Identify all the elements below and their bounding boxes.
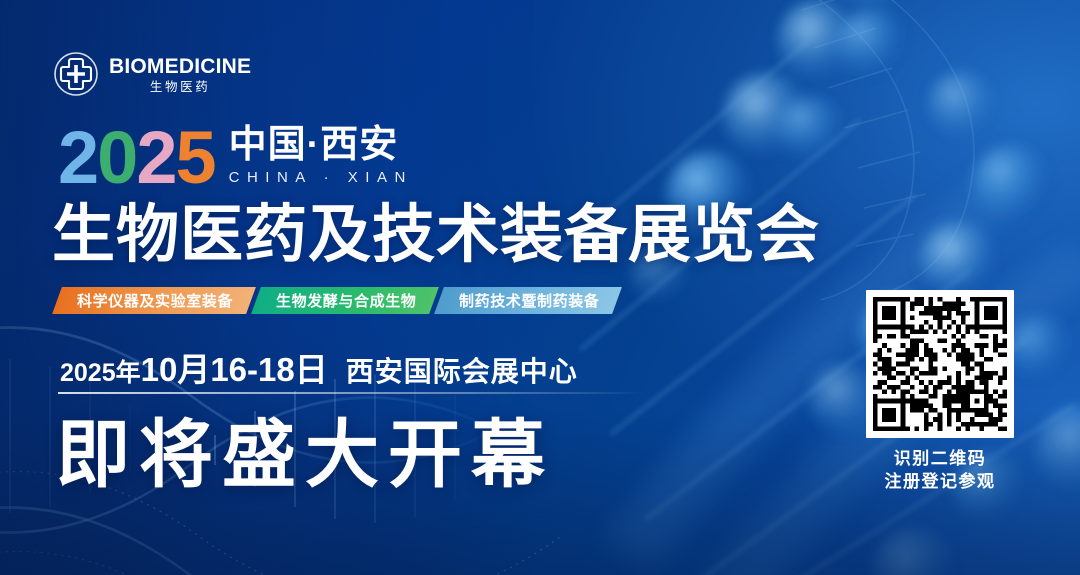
qr-caption-line-2: 注册登记参观 (885, 471, 996, 494)
event-year: 2025年 (60, 353, 141, 389)
qr-registration-block[interactable]: 识别二维码 注册登记参观 (864, 290, 1016, 494)
brand-logo: BIOMEDICINE 生物医药 (52, 50, 251, 98)
category-tag-label: 生物发酵与合成生物 (276, 290, 416, 311)
year-city-block: 2 0 2 5 中国·西安 CHINA · XIAN (58, 124, 413, 192)
category-tag-pharma: 制药技术暨制药装备 (435, 287, 623, 314)
qr-caption-line-1: 识别二维码 (885, 448, 996, 471)
promo-banner: BIOMEDICINE 生物医药 2 0 2 5 中国·西安 CHINA · X… (0, 0, 1080, 575)
headline-text: 即将盛大开幕 (56, 414, 554, 495)
year-2025: 2 0 2 5 (58, 124, 215, 192)
logo-name-en: BIOMEDICINE (109, 56, 251, 77)
medical-cross-circle-icon (52, 50, 100, 98)
category-tag-instruments: 科学仪器及实验室装备 (52, 287, 256, 314)
logo-name-cn: 生物医药 (109, 81, 251, 94)
qr-code-icon[interactable] (873, 297, 1007, 431)
year-digit-3: 2 (136, 124, 175, 192)
dna-helix-top-right (780, 0, 1080, 300)
category-tag-fermentation: 生物发酵与合成生物 (251, 287, 439, 314)
event-venue: 西安国际会展中心 (346, 350, 578, 390)
year-digit-2: 0 (97, 124, 136, 192)
year-digit-1: 2 (58, 124, 97, 192)
qr-code-frame[interactable] (866, 290, 1014, 438)
city-block: 中国·西安 CHINA · XIAN (229, 126, 413, 192)
divider-rule (58, 392, 648, 394)
category-tag-label: 科学仪器及实验室装备 (77, 290, 233, 311)
qr-caption: 识别二维码 注册登记参观 (885, 448, 996, 494)
page-title: 生物医药及技术装备展览会 (52, 202, 820, 268)
city-name-en: CHINA · XIAN (229, 169, 413, 186)
city-name-cn: 中国·西安 (229, 126, 413, 166)
category-tag-label: 制药技术暨制药装备 (459, 290, 599, 311)
year-digit-4: 5 (175, 124, 214, 192)
category-tag-list: 科学仪器及实验室装备 生物发酵与合成生物 制药技术暨制药装备 (57, 287, 623, 314)
event-date-venue: 2025年 10月16-18日 西安国际会展中心 (60, 343, 578, 391)
event-date: 10月16-18日 (141, 343, 328, 391)
